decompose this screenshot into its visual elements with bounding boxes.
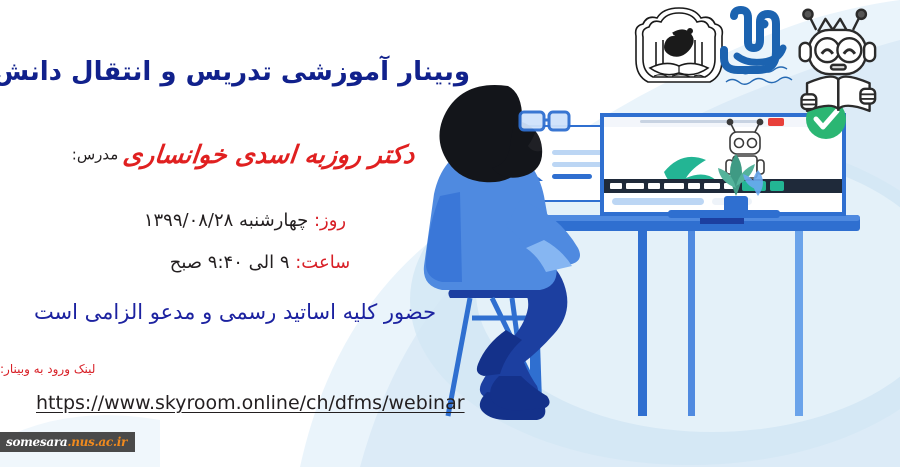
time-row: ساعت: ۹ الی ۹:۴۰ صبح: [105, 252, 415, 273]
watermark-primary: somesara: [6, 435, 67, 449]
presenter-name: دکتر روزبه اسدی خوانساری: [121, 140, 416, 169]
presenter-row: دکتر روزبه اسدی خوانساری مدرس:: [40, 140, 450, 169]
mandatory-attendance-note: حضور کلیه اساتید رسمی و مدعو الزامی است: [0, 300, 470, 324]
time-label: ساعت:: [295, 252, 350, 273]
day-label: روز:: [314, 210, 346, 231]
poster-title: وبینار آموزشی تدریس و انتقال دانش: [0, 58, 470, 88]
time-value: ۹ الی ۹:۴۰ صبح: [170, 252, 290, 273]
watermark-secondary: .nus.ac.ir: [67, 435, 127, 449]
webinar-link-url[interactable]: https://www.skyroom.online/ch/dfms/webin…: [36, 392, 466, 414]
day-value: چهارشنبه ۱۳۹۹/۰۸/۲۸: [144, 210, 308, 231]
webinar-poster: robot: [0, 0, 900, 467]
presenter-label: مدرس:: [72, 146, 119, 164]
site-watermark: somesara.nus.ac.ir: [0, 432, 135, 452]
webinar-link-label: لینک ورود به وبینار:: [0, 362, 420, 376]
day-row: روز: چهارشنبه ۱۳۹۹/۰۸/۲۸: [80, 210, 410, 231]
